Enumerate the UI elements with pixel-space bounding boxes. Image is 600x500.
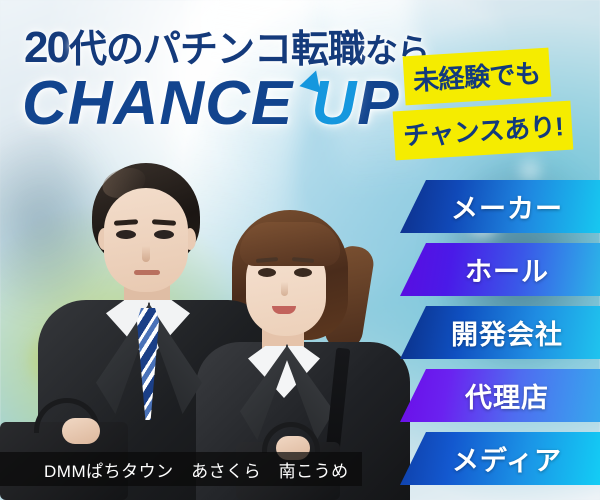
hand-left <box>62 418 100 444</box>
badge-group: 未経験でも チャンスあり! <box>392 52 600 155</box>
background-bokeh <box>520 160 540 180</box>
wordmark: CHANCE UP <box>22 68 400 139</box>
caption-text: DMMぱちタウン あさくら 南こうめ <box>44 457 349 482</box>
category-list: メーカー ホール 開発会社 代理店 メディア <box>400 180 600 495</box>
kicker-text: 20代のパチンコ転職なら <box>24 18 429 73</box>
wordmark-chance: CHANCE <box>22 69 293 138</box>
category-hall[interactable]: ホール <box>400 243 600 296</box>
kicker-middle: 代のパチンコ転職 <box>69 29 365 71</box>
category-developer[interactable]: 開発会社 <box>400 306 600 359</box>
promo-banner: 20代のパチンコ転職なら CHANCE UP 未経験でも チャンスあり! メーカ… <box>0 0 600 500</box>
badge-chance-available: チャンスあり! <box>393 101 574 161</box>
category-agency[interactable]: 代理店 <box>400 369 600 422</box>
category-media[interactable]: メディア <box>400 432 600 485</box>
models-photo <box>0 150 420 500</box>
kicker-number: 20 <box>24 23 69 72</box>
category-maker[interactable]: メーカー <box>400 180 600 233</box>
badge-no-experience: 未経験でも <box>403 48 551 106</box>
caption-strip: DMMぱちタウン あさくら 南こうめ <box>0 452 362 486</box>
